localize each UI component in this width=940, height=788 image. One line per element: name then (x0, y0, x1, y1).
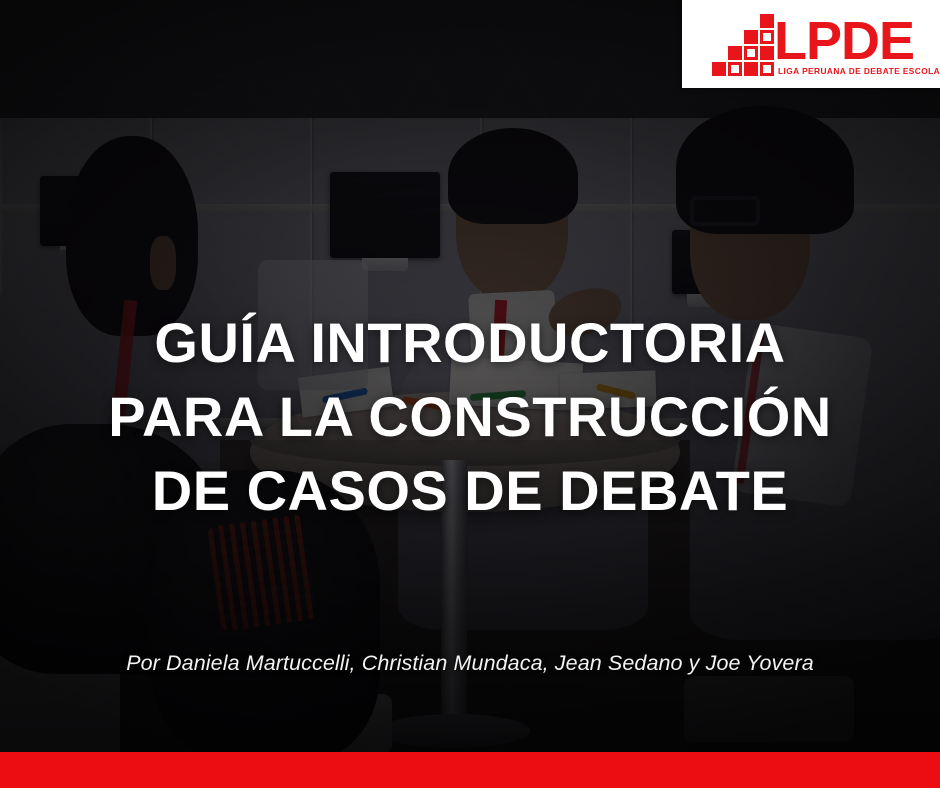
title-line-2: PARA LA CONSTRUCCIÓN (0, 380, 940, 454)
logo-wordmark: LPDE (774, 14, 914, 68)
logo-squares (712, 22, 774, 76)
logo-panel: LPDE LIGA PERUANA DE DEBATE ESCOLAR (682, 0, 940, 88)
logo-tagline: LIGA PERUANA DE DEBATE ESCOLAR (778, 66, 940, 76)
footer-red-bar (0, 752, 940, 788)
title-line-3: DE CASOS DE DEBATE (0, 454, 940, 528)
title-line-1: GUÍA INTRODUCTORIA (0, 306, 940, 380)
author-byline: Por Daniela Martuccelli, Christian Munda… (0, 651, 940, 676)
page-title: GUÍA INTRODUCTORIA PARA LA CONSTRUCCIÓN … (0, 306, 940, 528)
cover-slide: LPDE LIGA PERUANA DE DEBATE ESCOLAR GUÍA… (0, 0, 940, 788)
